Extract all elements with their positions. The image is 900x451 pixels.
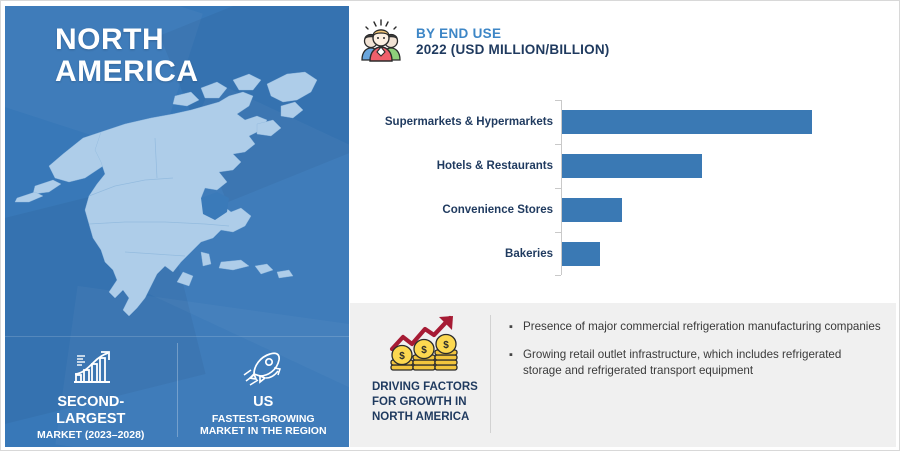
region-title-line1: NORTH bbox=[55, 24, 199, 56]
stat-headline: US bbox=[253, 394, 273, 411]
bar-supermarkets-hypermarkets bbox=[562, 110, 812, 134]
stat-subtext: MARKET (2023–2028) bbox=[37, 429, 144, 442]
bar-bakeries bbox=[562, 242, 600, 266]
bar-category-label: Bakeries bbox=[350, 247, 553, 261]
bar-category-label: Hotels & Restaurants bbox=[350, 159, 553, 173]
bullet-square-icon: ▪ bbox=[509, 347, 523, 380]
svg-text:$: $ bbox=[399, 351, 405, 362]
bar-row: Bakeries bbox=[350, 232, 896, 276]
stat-subtext: FASTEST-GROWING MARKET IN THE REGION bbox=[200, 413, 327, 438]
region-panel: NORTH AMERICA bbox=[5, 6, 349, 447]
chart-subtitle: 2022 (USD MILLION/BILLION) bbox=[416, 42, 609, 57]
svg-text:$: $ bbox=[443, 340, 449, 351]
bar-convenience-stores bbox=[562, 198, 622, 222]
bar-hotels-restaurants bbox=[562, 154, 702, 178]
infographic-root: NORTH AMERICA bbox=[0, 0, 900, 451]
chart-panel: BY END USE 2022 (USD MILLION/BILLION) Su… bbox=[350, 6, 896, 303]
people-group-icon bbox=[358, 18, 404, 64]
bar-chart: Supermarkets & Hypermarkets Hotels & Res… bbox=[350, 96, 896, 286]
bar-category-label: Convenience Stores bbox=[350, 203, 553, 217]
driving-factors-caption: DRIVING FACTORS FOR GROWTH IN NORTH AMER… bbox=[364, 380, 484, 425]
north-america-map-icon bbox=[5, 66, 349, 334]
list-item: ▪ Presence of major commercial refrigera… bbox=[509, 319, 882, 336]
list-item-text: Growing retail outlet infrastructure, wh… bbox=[523, 347, 882, 380]
svg-text:$: $ bbox=[421, 345, 427, 356]
bullet-square-icon: ▪ bbox=[509, 319, 523, 336]
bar-row: Supermarkets & Hypermarkets bbox=[350, 100, 896, 144]
driving-factors-heading: $ $ bbox=[350, 303, 490, 447]
region-title-line2: AMERICA bbox=[55, 56, 199, 88]
bar-row: Convenience Stores bbox=[350, 188, 896, 232]
stat-headline: SECOND- LARGEST bbox=[56, 394, 125, 427]
growth-bar-chart-arrow-icon bbox=[68, 345, 114, 391]
chart-title: BY END USE bbox=[416, 26, 609, 41]
rocket-icon bbox=[240, 345, 286, 391]
chart-header: BY END USE 2022 (USD MILLION/BILLION) bbox=[358, 18, 609, 64]
coin-stacks-growth-arrow-icon: $ $ bbox=[387, 313, 461, 375]
list-item-text: Presence of major commercial refrigerati… bbox=[523, 319, 881, 336]
bar-row: Hotels & Restaurants bbox=[350, 144, 896, 188]
driving-factors-panel: $ $ bbox=[350, 303, 896, 447]
stat-fastest-growing: US FASTEST-GROWING MARKET IN THE REGION bbox=[178, 337, 350, 438]
page-title: NORTH AMERICA bbox=[55, 24, 199, 88]
driving-factors-list: ▪ Presence of major commercial refrigera… bbox=[491, 303, 896, 447]
stat-second-largest: SECOND- LARGEST MARKET (2023–2028) bbox=[5, 337, 177, 442]
region-stats: SECOND- LARGEST MARKET (2023–2028) bbox=[5, 337, 349, 447]
bar-category-label: Supermarkets & Hypermarkets bbox=[350, 115, 553, 129]
list-item: ▪ Growing retail outlet infrastructure, … bbox=[509, 347, 882, 380]
